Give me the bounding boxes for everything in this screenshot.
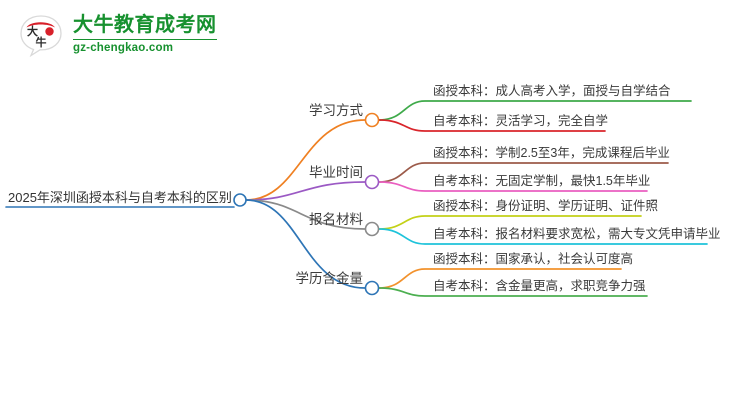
leaf-label-1-2[interactable]: 自考本科：灵活学习，完全自学	[433, 115, 608, 128]
leaf-label-4-1[interactable]: 函授本科：国家承认，社会认可度高	[433, 253, 633, 266]
leaf-label-2-1[interactable]: 函授本科：学制2.5至3年，完成课程后毕业	[433, 147, 670, 160]
branch-label-1[interactable]: 学习方式	[309, 104, 363, 118]
node-circle[interactable]	[234, 194, 246, 206]
leaf-label-4-2[interactable]: 自考本科：含金量更高，求职竞争力强	[433, 280, 646, 293]
node-circle[interactable]	[366, 282, 379, 295]
branch-label-3[interactable]: 报名材料	[309, 213, 363, 227]
leaf-label-3-1[interactable]: 函授本科：身份证明、学历证明、证件照	[433, 200, 658, 213]
connector-line	[246, 120, 365, 200]
leaf-label-1-1[interactable]: 函授本科：成人高考入学，面授与自学结合	[433, 85, 671, 98]
leaf-label-2-2[interactable]: 自考本科：无固定学制，最快1.5年毕业	[433, 175, 650, 188]
node-circle[interactable]	[366, 223, 379, 236]
node-circle[interactable]	[366, 176, 379, 189]
mindmap-canvas: 学习方式函授本科：成人高考入学，面授与自学结合自考本科：灵活学习，完全自学毕业时…	[0, 0, 750, 410]
leaf-label-3-2[interactable]: 自考本科：报名材料要求宽松，需大专文凭申请毕业	[433, 228, 721, 241]
node-circle[interactable]	[366, 114, 379, 127]
branch-label-2[interactable]: 毕业时间	[309, 166, 363, 180]
root-label[interactable]: 2025年深圳函授本科与自考本科的区别	[8, 191, 232, 204]
branch-label-4[interactable]: 学历含金量	[296, 272, 364, 286]
